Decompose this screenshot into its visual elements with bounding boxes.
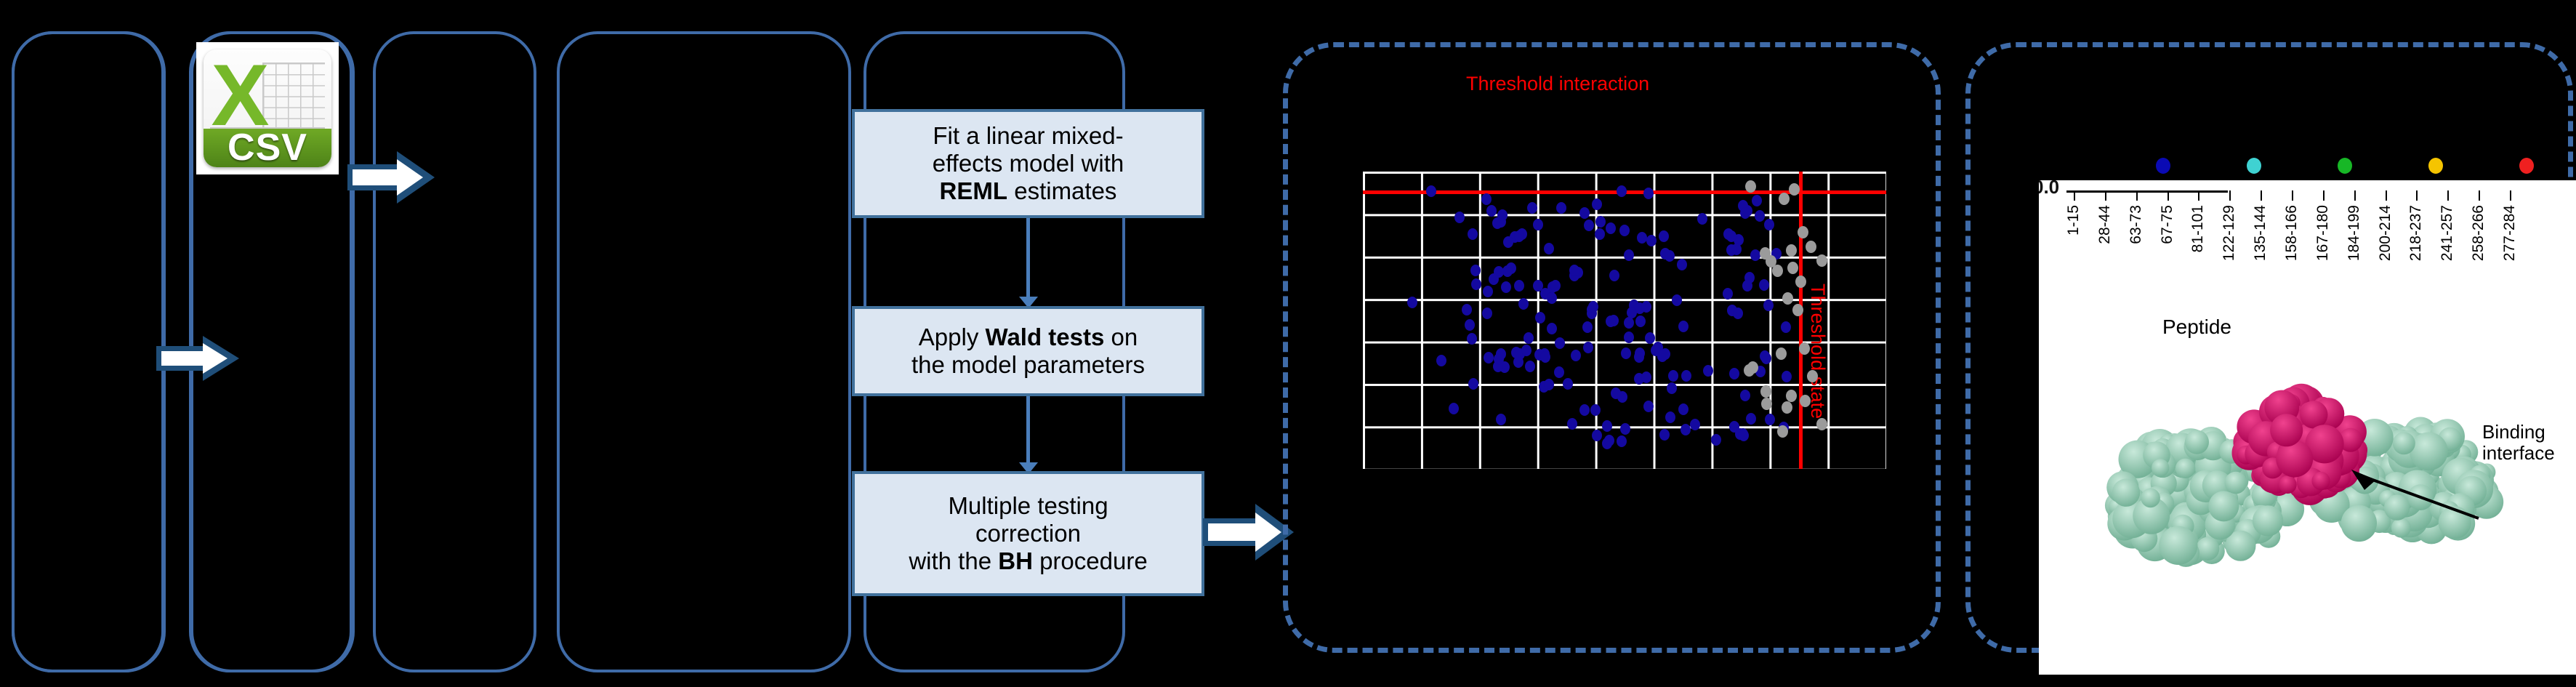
scatter-point: [1678, 321, 1689, 332]
scatter-point: [1556, 202, 1566, 214]
legend-dot-series-green: [2338, 158, 2352, 174]
scatter-point: [1602, 420, 1612, 432]
scatter-point: [1620, 423, 1630, 435]
protein-surface-image: [2082, 347, 2533, 587]
scatter-point: [1547, 292, 1557, 304]
step-bh-box[interactable]: Multiple testing correction with the BH …: [852, 471, 1204, 596]
peptide-tick-label: 135-144: [2252, 205, 2269, 261]
scatter-point-gray: [1786, 244, 1797, 257]
scatter-point: [1690, 419, 1700, 430]
scatter-point: [1611, 387, 1621, 399]
scatter-point: [1496, 414, 1506, 425]
scatter-point: [1518, 298, 1529, 310]
scatter-point: [1740, 207, 1750, 219]
peptide-tick-label: 67-75: [2159, 205, 2176, 244]
scatter-point: [1645, 332, 1655, 344]
scatter-panel: [557, 31, 851, 672]
scatter-point: [1465, 319, 1475, 331]
step-reml-box[interactable]: Fit a linear mixed- effects model with R…: [852, 109, 1204, 218]
scatter-point: [1497, 209, 1508, 221]
scatter-point: [1617, 435, 1627, 447]
peptide-tick: [2105, 190, 2106, 201]
csv-icon-body: X CSV: [204, 49, 331, 167]
scatter-point-gray: [1795, 276, 1806, 288]
step-wald-text: Apply Wald tests on the model parameters: [911, 324, 1145, 379]
peptide-tick-label: 63-73: [2128, 205, 2145, 244]
protein-surface-blob: [2225, 472, 2247, 494]
scatter-point: [1595, 228, 1605, 240]
scatter-point: [1462, 304, 1472, 316]
protein-surface-blob: [2159, 526, 2197, 565]
scatter-point: [1535, 312, 1545, 324]
protein-surface-blob: [2279, 475, 2297, 494]
protein-surface-blob: [2152, 459, 2169, 476]
threshold-interaction-label: Threshold interaction: [1466, 73, 1649, 95]
peptide-tick-label: 200-214: [2377, 205, 2394, 261]
peptide-tick-label: 258-266: [2470, 205, 2487, 261]
scatter-point: [1449, 403, 1459, 414]
y-axis-tick-label: 0.0: [2039, 180, 2059, 198]
scatter-point: [1697, 213, 1707, 225]
scatter-point-gray: [1787, 262, 1798, 274]
scatter-point: [1733, 308, 1743, 319]
scatter-point: [1496, 348, 1506, 360]
scatter-point: [1489, 273, 1499, 285]
protein-surface-blob: [2391, 518, 2411, 538]
scatter-point: [1740, 390, 1750, 401]
scatter-point: [1467, 333, 1477, 345]
scatter-point-gray: [1816, 418, 1827, 430]
protein-surface-blob: [2185, 430, 2209, 454]
scatter-point: [1761, 353, 1771, 364]
peptide-tick-label: 167-180: [2314, 205, 2332, 261]
scatter-point-gray: [1816, 254, 1827, 267]
scatter-point-gray: [1777, 425, 1788, 438]
scatter-point-gray: [1798, 226, 1808, 238]
scatter-point: [1752, 195, 1762, 206]
peptide-tick: [2074, 190, 2075, 201]
scatter-point: [1624, 317, 1634, 329]
scatter-point: [1483, 286, 1493, 297]
scatter-point: [1533, 219, 1543, 230]
scatter-point: [1481, 193, 1492, 205]
protein-surface-blob: [2270, 414, 2303, 446]
scatter-point-gray: [1789, 183, 1800, 196]
scatter-point: [1643, 401, 1654, 412]
peptide-tick: [2292, 190, 2293, 201]
protein-surface-blob: [2196, 537, 2219, 561]
scatter-point: [1595, 216, 1606, 228]
scatter-point: [1621, 347, 1631, 359]
scatter-point: [1660, 248, 1670, 260]
scatter-point-gray: [1792, 304, 1803, 316]
protein-surface-blob: [2175, 459, 2195, 478]
peptide-tick-label: 122-129: [2221, 205, 2238, 261]
scatter-point: [1681, 370, 1691, 382]
scatter-point: [1550, 280, 1561, 292]
scatter-point: [1582, 321, 1593, 333]
peptide-tick: [2229, 190, 2231, 201]
binding-interface-label: Binding interface: [2482, 422, 2555, 463]
scatter-point-gray: [1807, 370, 1818, 382]
scatter-point: [1739, 430, 1749, 441]
peptide-tick-label: 81-101: [2189, 205, 2207, 252]
peptide-axis-title: Peptide: [2162, 316, 2231, 339]
scatter-point: [1544, 243, 1554, 254]
scatter-point: [1407, 297, 1417, 308]
scatter-point: [1524, 332, 1534, 344]
scatter-point-gray: [1776, 347, 1787, 360]
scatter-point: [1484, 352, 1494, 363]
scatter-point: [1641, 371, 1651, 383]
scatter-point-gray: [1761, 398, 1772, 410]
panel-1-outline: [12, 31, 166, 672]
scatter-point: [1742, 280, 1752, 292]
scatter-point: [1759, 279, 1769, 291]
scatter-point: [1634, 351, 1644, 363]
scatter-point: [1657, 350, 1667, 362]
scatter-point: [1750, 249, 1760, 261]
scatter-point-gray: [1782, 292, 1793, 305]
threshold-scatter-plot: Threshold interaction Threshold state: [1363, 102, 1886, 469]
scatter-point: [1641, 301, 1651, 313]
scatter-point: [1544, 379, 1554, 390]
peptide-tick-label: 184-199: [2346, 205, 2363, 261]
protein-surface-blob: [2341, 505, 2377, 541]
scatter-point-gray: [1760, 385, 1771, 398]
protein-surface-blob: [2112, 479, 2140, 507]
legend-dot-series-blue: [2156, 158, 2170, 174]
scatter-point: [1763, 300, 1774, 311]
scatter-point: [1426, 185, 1436, 197]
scatter-point: [1617, 185, 1627, 197]
scatter-point-gray: [1779, 193, 1790, 205]
legend-dot-series-cyan: [2247, 158, 2261, 174]
scatter-point: [1579, 207, 1590, 219]
peptide-tick-label: 158-166: [2283, 205, 2301, 261]
protein-surface-blob: [2208, 491, 2239, 521]
scatter-point: [1486, 205, 1497, 217]
arrow-to-scatter: [1203, 504, 1294, 561]
scatter-point: [1525, 361, 1535, 372]
scatter-points-layer: [1363, 102, 1886, 469]
protein-surface-blob: [2311, 472, 2330, 490]
scatter-point: [1668, 370, 1678, 382]
peptide-tick: [2261, 190, 2262, 201]
scatter-point-gray: [1786, 390, 1797, 402]
arrow-to-csv: [156, 336, 240, 381]
scatter-point: [1635, 316, 1646, 327]
scatter-point: [1547, 323, 1557, 334]
peptide-tick: [2168, 190, 2169, 201]
protein-surface-blob: [2410, 433, 2448, 471]
protein-surface-blob: [2141, 489, 2160, 508]
scatter-point: [1781, 321, 1791, 333]
peptide-tick-label: 218-237: [2407, 205, 2425, 261]
scatter-point: [1503, 236, 1513, 248]
scatter-point: [1672, 294, 1682, 306]
peptide-tick-label: 28-44: [2096, 205, 2114, 244]
scatter-point: [1681, 424, 1691, 435]
scatter-point: [1592, 198, 1602, 210]
peptide-tick: [2198, 190, 2199, 201]
scatter-point: [1677, 259, 1687, 270]
scatter-point: [1554, 366, 1564, 378]
peptide-tick-label: 277-284: [2501, 205, 2519, 261]
scatter-point: [1571, 350, 1581, 361]
peptide-tick: [2479, 190, 2480, 201]
scatter-point: [1606, 316, 1616, 327]
scatter-point: [1604, 435, 1614, 446]
scatter-point: [1501, 281, 1511, 293]
scatter-point: [1567, 418, 1577, 430]
scatter-point: [1643, 188, 1654, 199]
scatter-point: [1729, 368, 1739, 379]
line-chart-legend: [2013, 149, 2551, 178]
scatter-point: [1514, 230, 1524, 242]
scatter-point: [1726, 230, 1736, 242]
scatter-point: [1755, 210, 1765, 222]
peptide-tick: [2416, 190, 2418, 201]
scatter-point: [1436, 355, 1446, 366]
scatter-point: [1667, 382, 1677, 394]
peptide-tick: [2323, 190, 2325, 201]
peptide-axis-line: [2066, 190, 2228, 193]
scatter-point: [1711, 434, 1721, 446]
peptide-tick: [2386, 190, 2387, 201]
arrow-to-analysis: [347, 151, 435, 204]
peptide-tick-label: 1-15: [2065, 205, 2082, 236]
scatter-point: [1606, 222, 1616, 234]
step-wald-box[interactable]: Apply Wald tests on the model parameters: [852, 306, 1204, 396]
scatter-point: [1782, 371, 1792, 382]
scatter-point-gray: [1766, 255, 1776, 268]
scatter-point: [1619, 225, 1630, 236]
scatter-point-gray: [1799, 342, 1810, 355]
csv-file-icon[interactable]: X CSV: [196, 42, 339, 174]
legend-dot-series-yellow: [2428, 158, 2443, 174]
scatter-point: [1555, 337, 1565, 349]
scatter-point: [1609, 270, 1619, 281]
scatter-point: [1527, 202, 1537, 214]
step-reml-text: Fit a linear mixed- effects model with R…: [933, 122, 1124, 206]
connector-wald-to-bh: [1026, 396, 1030, 468]
peptide-tick: [2354, 190, 2356, 201]
scatter-point: [1703, 365, 1713, 377]
scatter-point-gray: [1806, 241, 1816, 253]
scatter-point: [1665, 411, 1675, 423]
scatter-point: [1659, 230, 1669, 242]
scatter-point: [1746, 413, 1756, 425]
scatter-point: [1563, 378, 1573, 390]
scatter-point: [1583, 342, 1593, 353]
step-bh-text: Multiple testing correction with the BH …: [909, 492, 1147, 576]
connector-reml-to-wald: [1026, 218, 1030, 302]
peptide-tick: [2136, 190, 2138, 201]
scatter-point: [1540, 351, 1550, 363]
legend-dot-series-red: [2519, 158, 2534, 174]
scatter-point-gray: [1782, 401, 1792, 414]
scatter-point: [1646, 235, 1657, 246]
scatter-point: [1511, 347, 1521, 358]
scatter-point: [1723, 288, 1733, 300]
scatter-point: [1468, 378, 1478, 390]
scatter-point: [1637, 232, 1647, 244]
scatter-point: [1678, 403, 1689, 415]
scatter-point: [1482, 308, 1492, 319]
scatter-point: [1579, 404, 1590, 416]
scatter-point: [1659, 429, 1670, 441]
scatter-point: [1726, 244, 1736, 256]
protein-structure-card: 0.0 1-1528-4463-7367-7581-101122-129135-…: [2039, 180, 2576, 675]
analysis-panel: [373, 31, 536, 672]
scatter-point: [1514, 280, 1524, 292]
protein-surface-blob: [2253, 505, 2283, 536]
scatter-point: [1468, 228, 1478, 240]
scatter-point: [1569, 265, 1579, 276]
scatter-point-gray: [1800, 395, 1811, 407]
peptide-tick: [2447, 190, 2449, 201]
scatter-point: [1764, 219, 1774, 230]
csv-extension-label: CSV: [228, 126, 307, 167]
scatter-point: [1470, 265, 1481, 276]
scatter-point: [1624, 249, 1634, 261]
scatter-point: [1521, 345, 1531, 356]
scatter-point: [1624, 332, 1634, 343]
scatter-point-gray: [1747, 361, 1758, 374]
scatter-point: [1592, 430, 1602, 441]
scatter-point: [1765, 414, 1775, 425]
scatter-point: [1471, 278, 1481, 290]
csv-extension-band: CSV: [204, 129, 331, 167]
scatter-point: [1590, 404, 1601, 416]
scatter-point-gray: [1745, 180, 1756, 193]
scatter-point: [1454, 212, 1465, 223]
peptide-tick-label: 241-257: [2439, 205, 2456, 261]
protein-surface-blob: [2393, 432, 2415, 454]
scatter-point: [1588, 301, 1598, 313]
protein-surface-blob: [2300, 401, 2327, 428]
scatter-point: [1584, 220, 1594, 231]
peptide-tick: [2510, 190, 2511, 201]
protein-surface-blob: [2384, 494, 2410, 520]
csv-spreadsheet-grid: [262, 63, 325, 129]
